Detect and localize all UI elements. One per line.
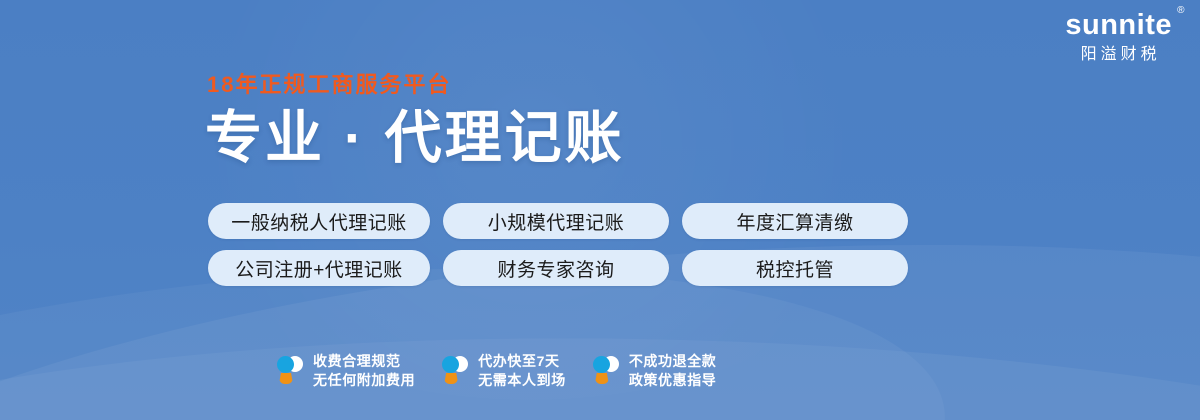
headline-block: 18年正规工商服务平台 专业 · 代理记账 — [205, 72, 625, 172]
feature-text: 不成功退全款 政策优惠指导 — [629, 352, 717, 390]
person-icon — [441, 355, 469, 387]
service-pill-grid: 一般纳税人代理记账 小规模代理记账 年度汇算清缴 公司注册+代理记账 财务专家咨… — [208, 203, 908, 286]
service-pill[interactable]: 公司注册+代理记账 — [208, 250, 430, 286]
feature-line-1: 代办快至7天 — [478, 352, 566, 371]
feature-line-1: 不成功退全款 — [629, 352, 717, 371]
feature-strip: 收费合理规范 无任何附加费用 代办快至7天 无需本人到场 不成功退全款 — [276, 352, 716, 390]
feature-line-2: 无需本人到场 — [478, 371, 566, 390]
feature-text: 收费合理规范 无任何附加费用 — [313, 352, 415, 390]
feature-item: 收费合理规范 无任何附加费用 — [276, 352, 415, 390]
service-pill[interactable]: 小规模代理记账 — [443, 203, 669, 239]
logo-chinese-name: 阳溢财税 — [1065, 45, 1172, 65]
person-icon — [592, 355, 620, 387]
service-pill[interactable]: 一般纳税人代理记账 — [208, 203, 430, 239]
person-icon — [276, 355, 304, 387]
feature-item: 不成功退全款 政策优惠指导 — [592, 352, 717, 390]
company-logo[interactable]: sunnite® 阳溢财税 — [1065, 8, 1172, 65]
registered-trademark-icon: ® — [1177, 6, 1185, 16]
service-pill[interactable]: 财务专家咨询 — [443, 250, 669, 286]
service-pill[interactable]: 税控托管 — [682, 250, 908, 286]
feature-line-2: 无任何附加费用 — [313, 371, 415, 390]
feature-item: 代办快至7天 无需本人到场 — [441, 352, 566, 390]
feature-text: 代办快至7天 无需本人到场 — [478, 352, 566, 390]
banner-tagline: 18年正规工商服务平台 — [207, 72, 625, 98]
promotional-banner: sunnite® 阳溢财税 18年正规工商服务平台 专业 · 代理记账 一般纳税… — [0, 0, 1200, 420]
feature-line-1: 收费合理规范 — [313, 352, 415, 371]
service-pill[interactable]: 年度汇算清缴 — [682, 203, 908, 239]
feature-line-2: 政策优惠指导 — [629, 371, 717, 390]
banner-title: 专业 · 代理记账 — [205, 104, 625, 172]
logo-wordmark: sunnite® — [1065, 8, 1172, 42]
